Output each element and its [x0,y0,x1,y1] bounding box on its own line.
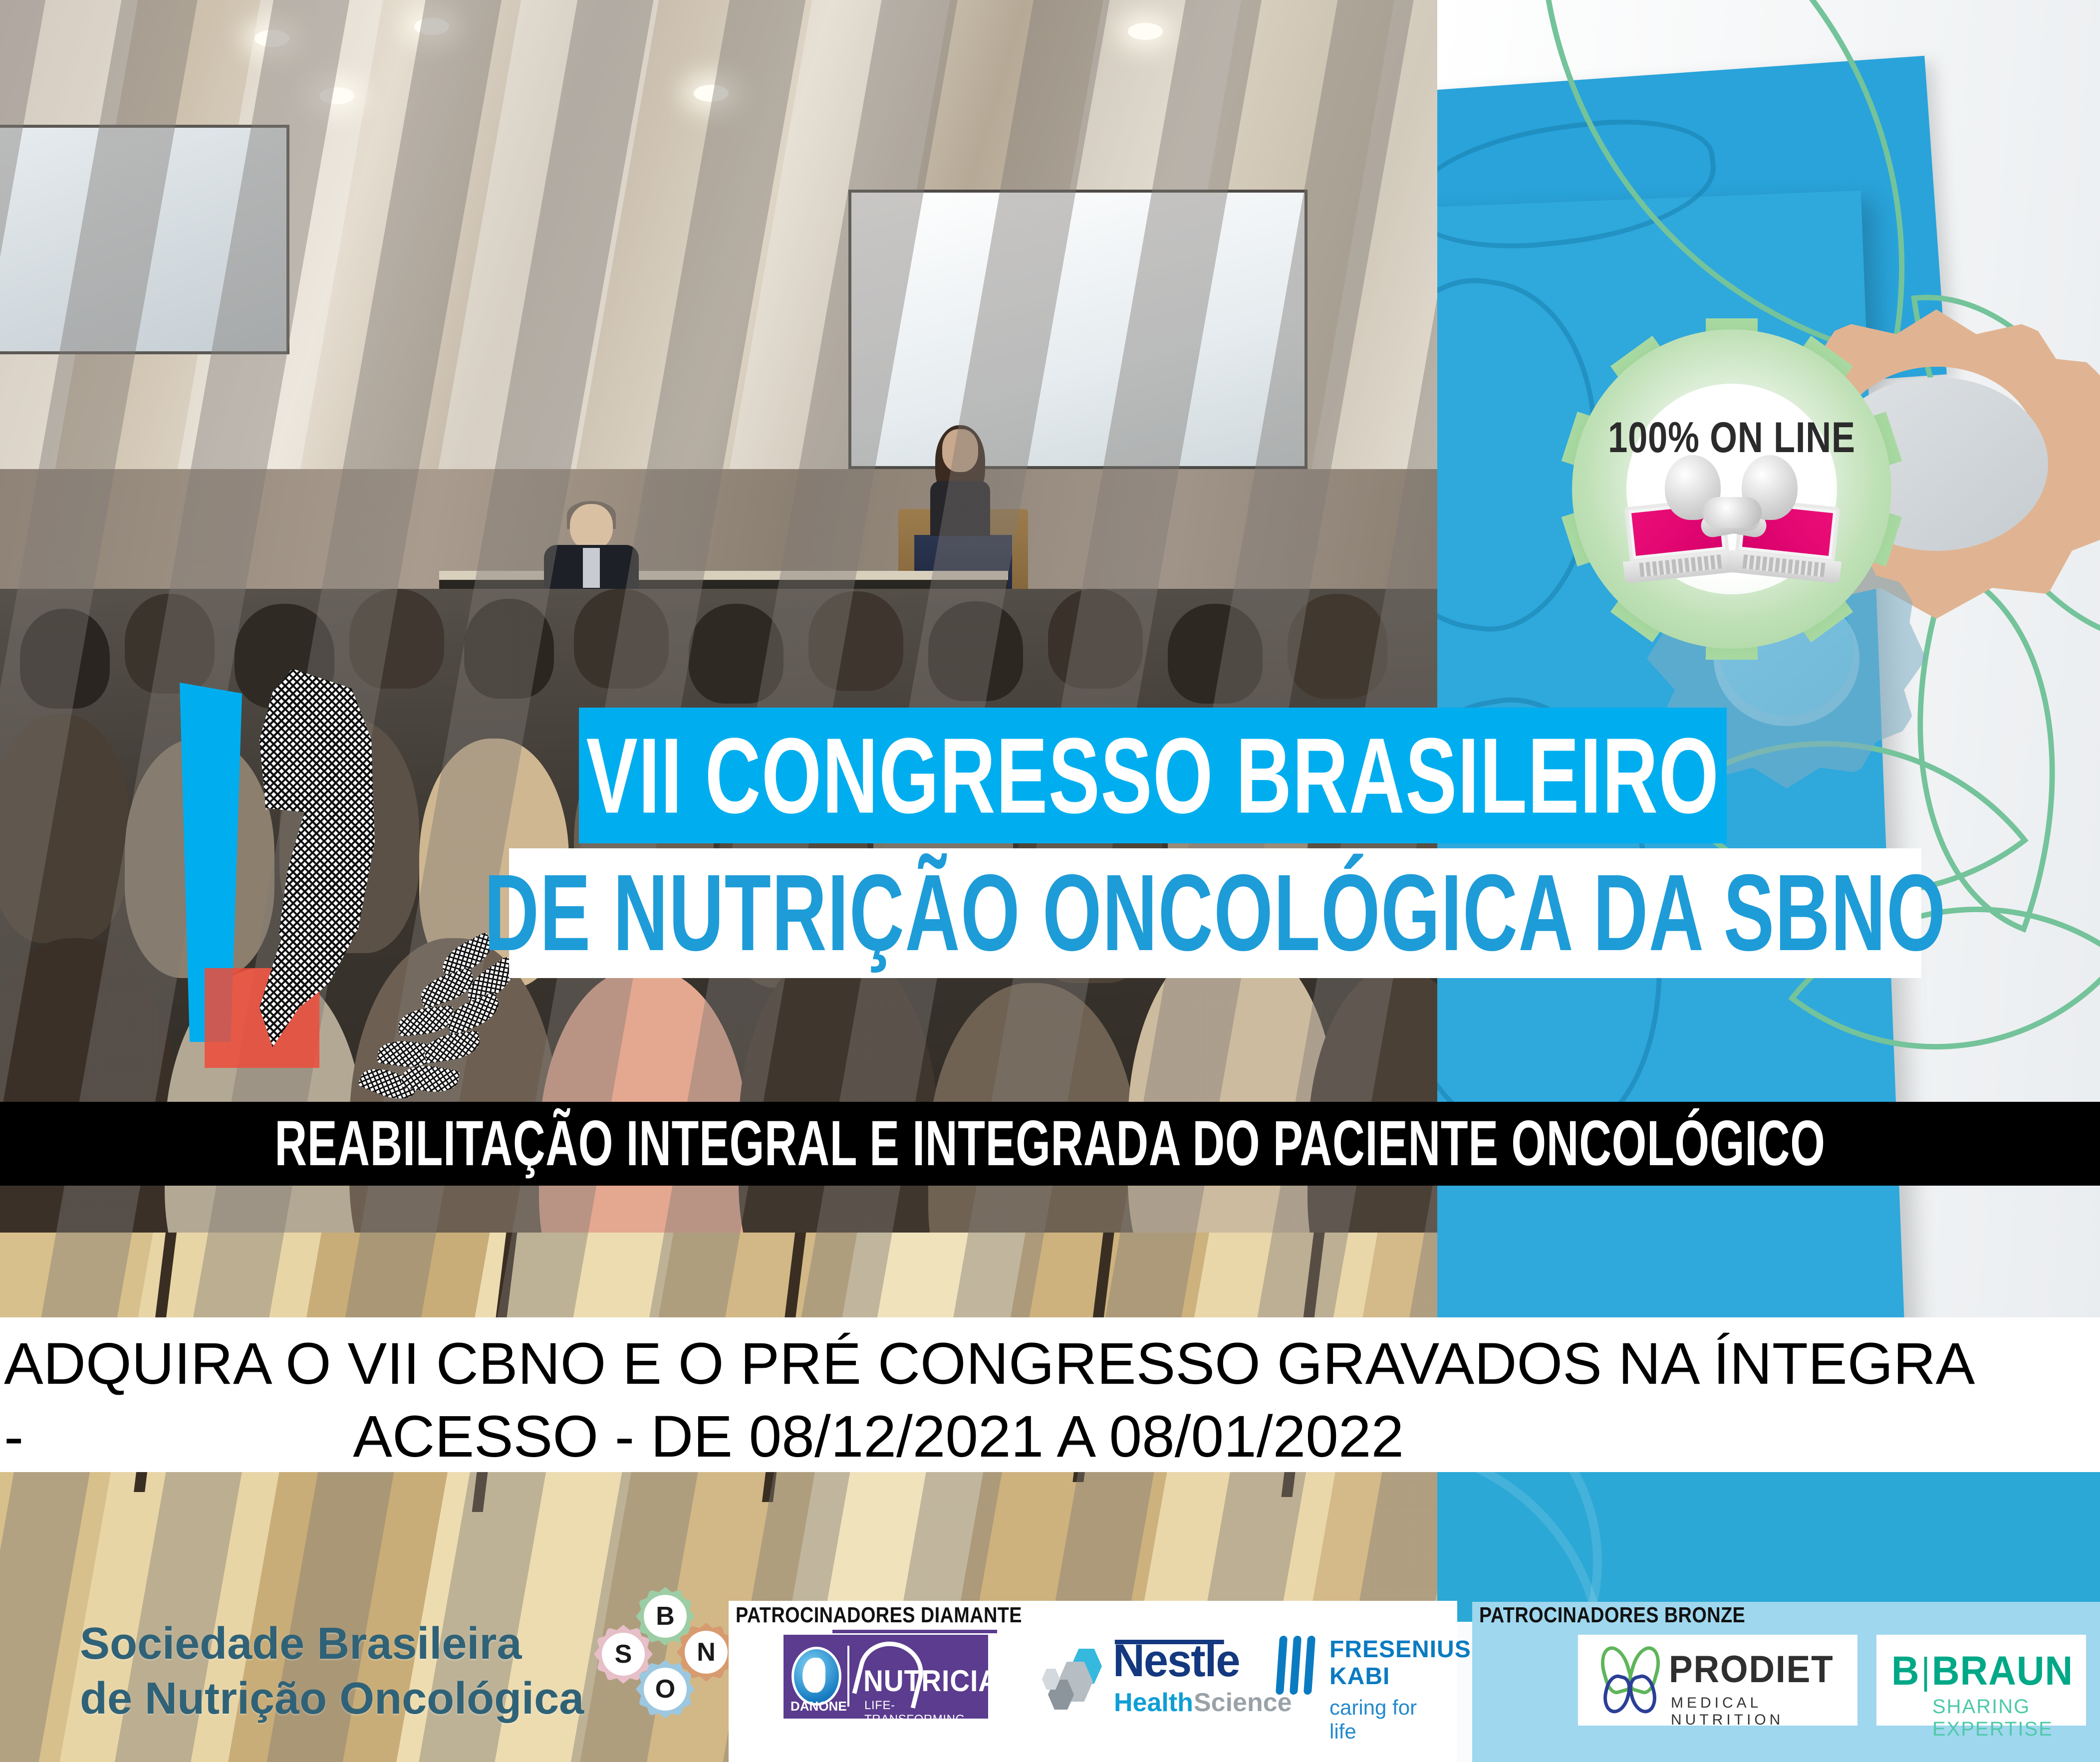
bbraun-tagline: SHARING EXPERTISE [1932,1696,2086,1741]
subtitle-text: REABILITAÇÃO INTEGRAL E INTEGRADA DO PAC… [274,1112,1825,1176]
prodiet-butterfly-icon [1599,1646,1664,1716]
nestle-wordmark: Nestle [1113,1635,1240,1687]
diamond-sponsors-heading: PATROCINADORES DIAMANTE [736,1603,1022,1628]
bbraun-b-letter: B [1891,1648,1920,1694]
online-badge: 100% ON LINE [1572,329,1891,649]
congress-poster: 100% ON LINE [0,0,2100,1762]
ceiling-lamp [414,18,449,35]
bbraun-wordmark: BBRAUN [1891,1648,2073,1695]
seated-panelist [539,504,644,589]
sponsor-logo-fresenius-kabi: FRESENIUS KABI caring for life [1278,1632,1447,1722]
online-badge-label: 100% ON LINE [1601,413,1863,463]
sponsor-logo-nestle: Nestle Health Science [1048,1632,1248,1722]
nutricia-wordmark: NUTRICIA [863,1664,999,1698]
sbno-society-logo: Sociedade Brasileira de Nutrição Oncológ… [80,1617,629,1747]
ceiling-lamp [319,87,354,104]
bronze-sponsors-heading: PATROCINADORES BRONZE [1479,1603,1745,1628]
handshake-icon [1703,497,1762,528]
bronze-sponsors-panel: PATROCINADORES BRONZE PRODIET MEDICAL NU… [1472,1601,2100,1762]
access-line-1: ADQUIRA O VII CBNO E O PRÉ CONGRESSO GRA… [4,1328,1975,1400]
access-line-2-row: -ACESSO - DE 08/12/2021 A 08/01/2022 [4,1401,1404,1473]
nutricia-tagline: LIFE-TRANSFORMING NUTRITION [864,1699,988,1741]
danone-globe-icon [791,1647,841,1706]
speaker-at-podium [913,429,1003,529]
access-line-2: ACESSO - DE 08/12/2021 A 08/01/2022 [23,1401,1404,1473]
ceiling-lamp [1128,23,1163,40]
fresenius-tagline: caring for life [1329,1696,1447,1744]
prodiet-wordmark: PRODIET [1669,1648,1834,1691]
society-line-1: Sociedade Brasileira [80,1617,629,1672]
side-projection-screen [0,125,289,354]
sponsor-logo-prodiet: PRODIET MEDICAL NUTRITION [1578,1635,1857,1726]
access-banner: ADQUIRA O VII CBNO E O PRÉ CONGRESSO GRA… [0,1317,2100,1472]
title-line1: VII CONGRESSO BRASILEIRO [586,722,1720,829]
nestle-health-word: Health [1114,1688,1193,1718]
ceiling-lamp [694,85,729,102]
title-line2-bar: DE NUTRIÇÃO ONCOLÓGICA DA SBNO [509,848,1921,978]
diamond-heading-rule [832,1630,997,1633]
bbraun-braun-letters: BRAUN [1932,1648,2073,1694]
diamond-sponsors-panel: PATROCINADORES DIAMANTE DANONE NUTRICIA … [729,1601,1457,1762]
bottom-blue-band [1437,1472,2100,1622]
fresenius-wordmark: FRESENIUS [1329,1636,1471,1663]
sbno-gear-letter: O [655,1674,675,1704]
title-line2: DE NUTRIÇÃO ONCOLÓGICA DA SBNO [484,859,1946,968]
sponsor-logo-nutricia: DANONE NUTRICIA LIFE-TRANSFORMING NUTRIT… [784,1635,988,1719]
sbno-gear-letter: S [615,1639,632,1669]
society-line-2: de Nutrição Oncológica [80,1672,629,1727]
kabi-wordmark: KABI [1329,1663,1390,1690]
sbno-gear-letter: N [697,1637,716,1667]
nestle-hex-icon [1048,1649,1113,1714]
main-projection-screen [848,190,1308,469]
sbno-gear-letter: B [656,1601,675,1631]
danone-wordmark: DANONE [790,1699,847,1714]
ceiling-lamp [255,30,289,47]
access-dash: - [4,1404,23,1470]
sbno-gear-cluster: B S N O [594,1587,744,1737]
fresenius-waves-icon [1278,1636,1320,1695]
prodiet-tagline: MEDICAL NUTRITION [1671,1695,1857,1729]
subtitle-bar: REABILITAÇÃO INTEGRAL E INTEGRADA DO PAC… [0,1102,2100,1186]
sponsor-logo-bbraun: BBRAUN SHARING EXPERTISE [1876,1635,2086,1726]
title-line1-bar: VII CONGRESSO BRASILEIRO [579,708,1727,843]
